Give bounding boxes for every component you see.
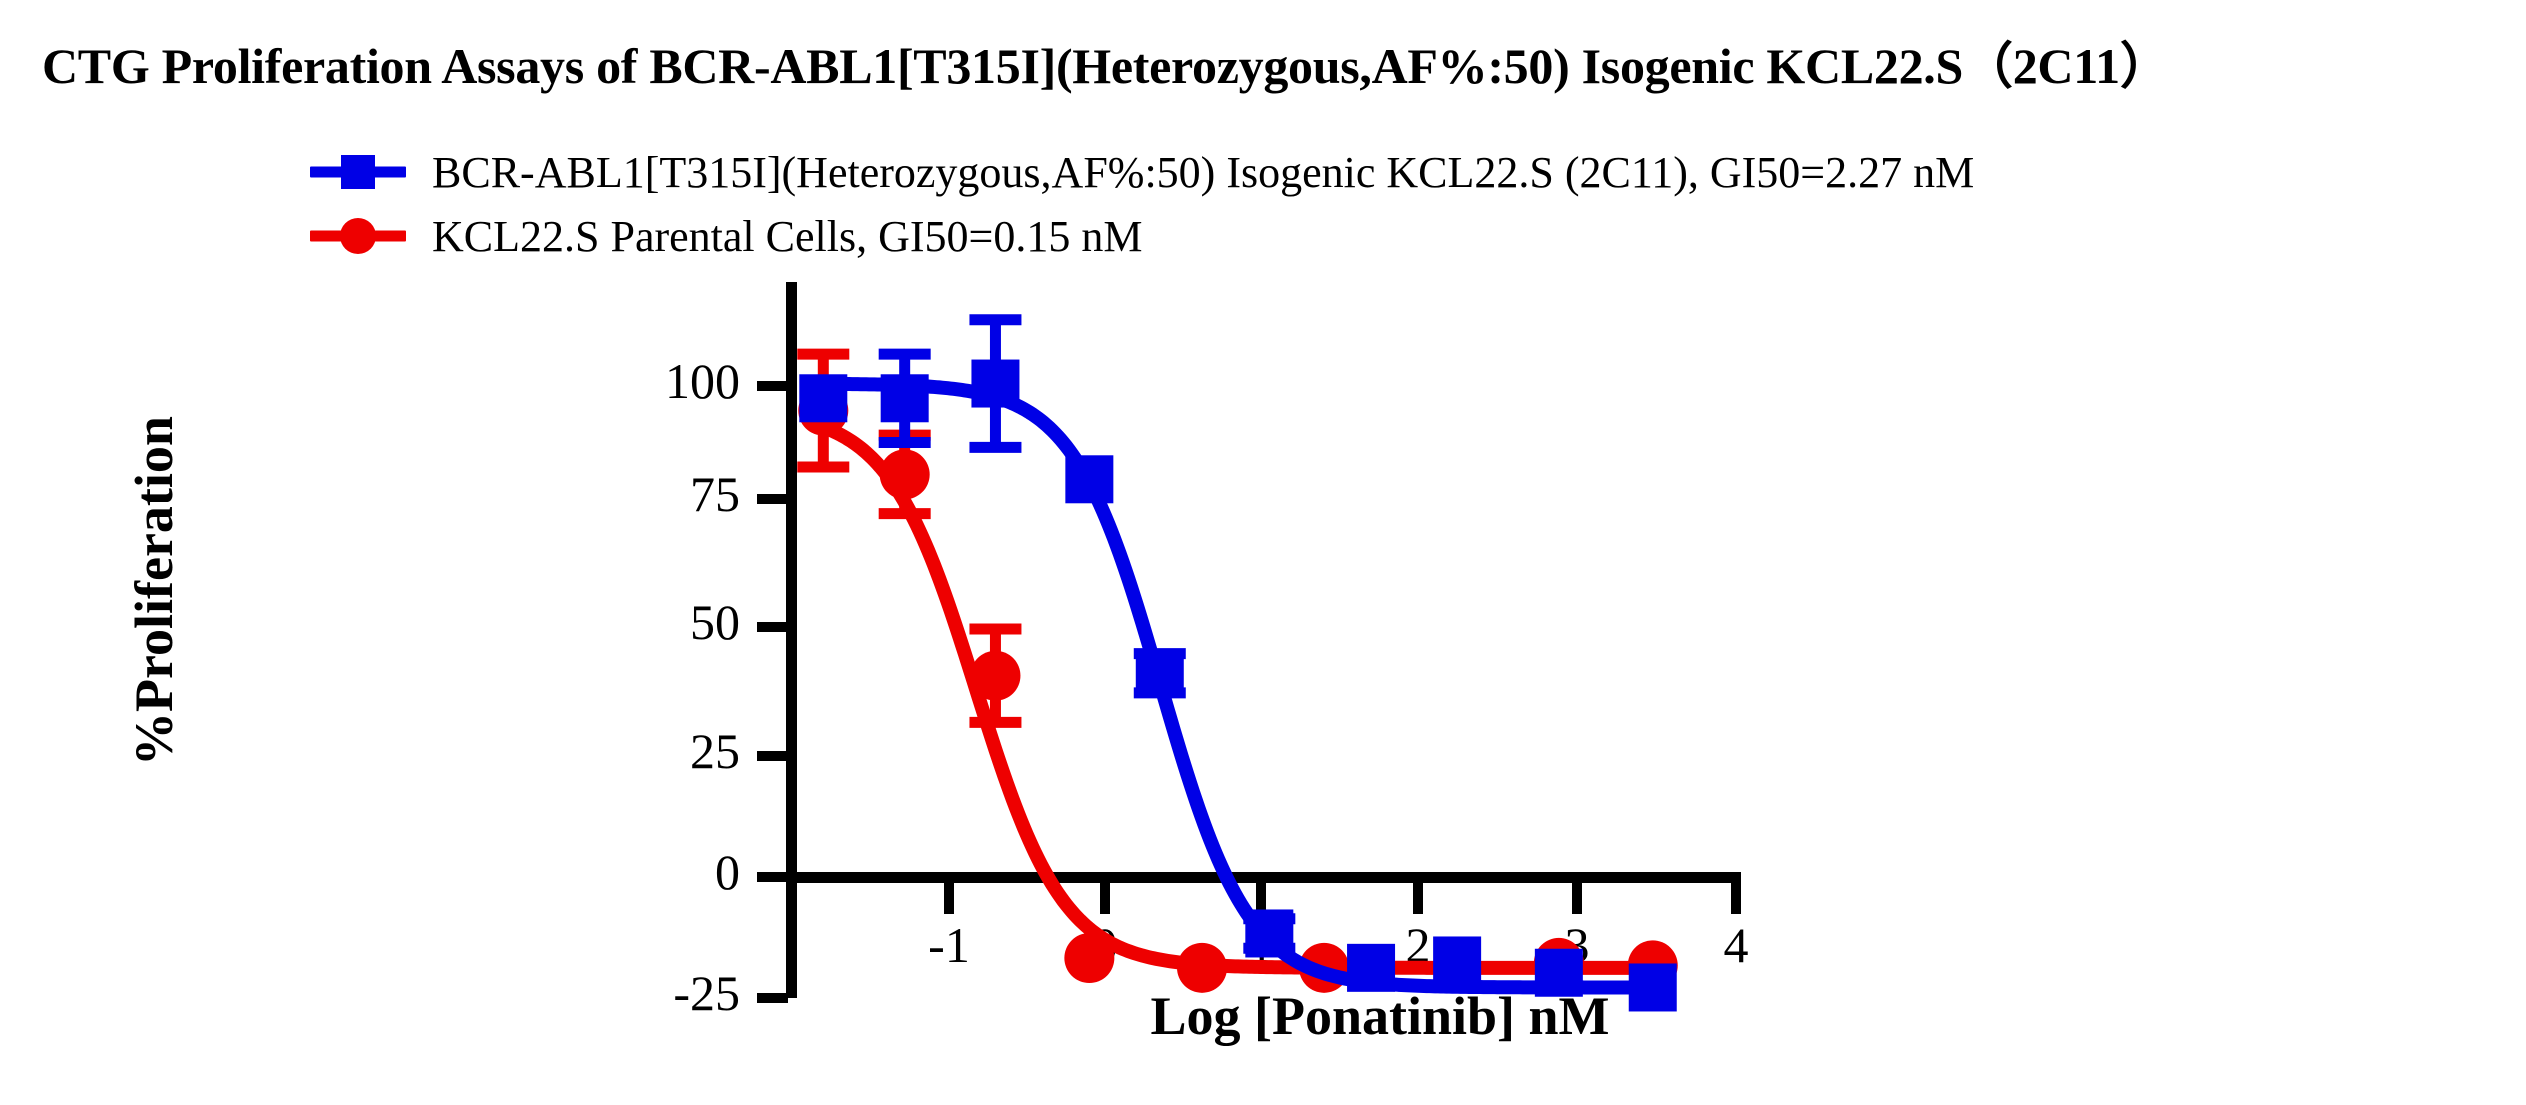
data-point xyxy=(880,449,930,499)
data-point xyxy=(1136,649,1184,697)
data-point xyxy=(1629,963,1677,1011)
data-point xyxy=(1245,909,1293,957)
data-point xyxy=(1535,949,1583,997)
data-curves-layer xyxy=(0,0,2526,1105)
data-point xyxy=(1347,944,1395,992)
data-point xyxy=(881,374,929,422)
figure-container: CTG Proliferation Assays of BCR-ABL1[T31… xyxy=(0,0,2526,1105)
data-point xyxy=(971,360,1019,408)
plot-area: 100 75 50 25 0 -25 -1 0 1 2 3 4 %Prolife… xyxy=(0,0,2526,1105)
data-point xyxy=(970,651,1020,701)
data-point xyxy=(1064,933,1114,983)
fit-curve xyxy=(815,384,1660,988)
data-point xyxy=(1177,943,1227,993)
data-point xyxy=(1065,455,1113,503)
data-point xyxy=(799,374,847,422)
series-blue xyxy=(799,320,1676,1012)
data-point xyxy=(1433,936,1481,984)
